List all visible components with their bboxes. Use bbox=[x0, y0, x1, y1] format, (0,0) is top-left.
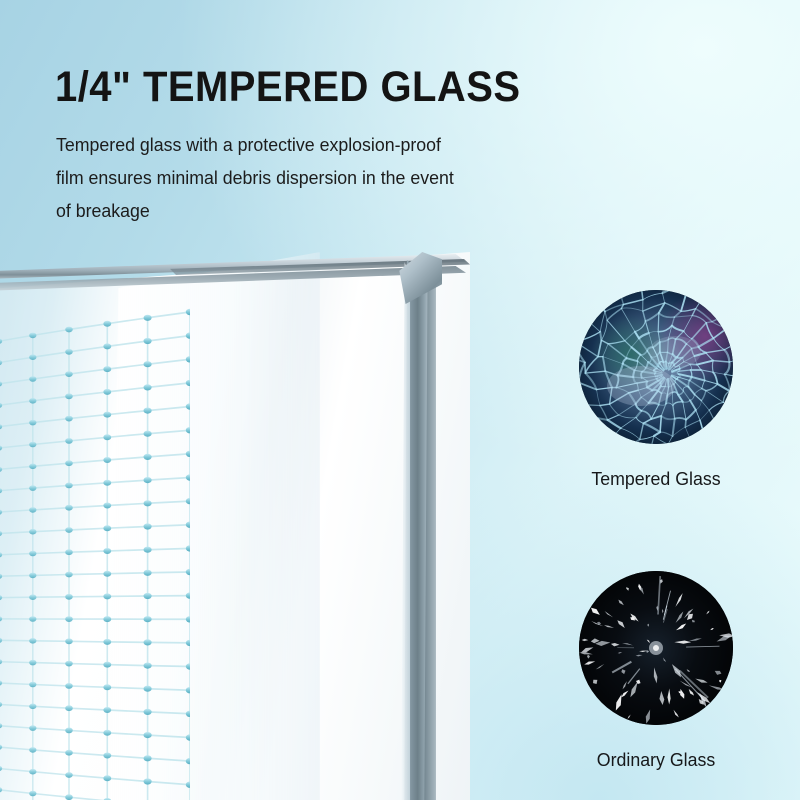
page-title: 1/4" TEMPERED GLASS bbox=[55, 62, 521, 112]
tempered-glass-photo bbox=[579, 290, 733, 444]
description-line-3: of breakage bbox=[56, 194, 517, 227]
product-feature-graphic: 1/4" TEMPERED GLASS Tempered glass with … bbox=[0, 0, 800, 800]
ordinary-glass-label: Ordinary Glass bbox=[512, 749, 800, 771]
glass-panel-illustration bbox=[0, 252, 490, 800]
ordinary-glass-photo bbox=[579, 571, 733, 725]
tempered-glass-label: Tempered Glass bbox=[512, 468, 800, 490]
description-line-2: film ensures minimal debris dispersion i… bbox=[56, 161, 517, 194]
description-text: Tempered glass with a protective explosi… bbox=[56, 128, 517, 227]
description-line-1: Tempered glass with a protective explosi… bbox=[56, 128, 517, 161]
explosion-proof-film-lattice bbox=[0, 282, 190, 800]
